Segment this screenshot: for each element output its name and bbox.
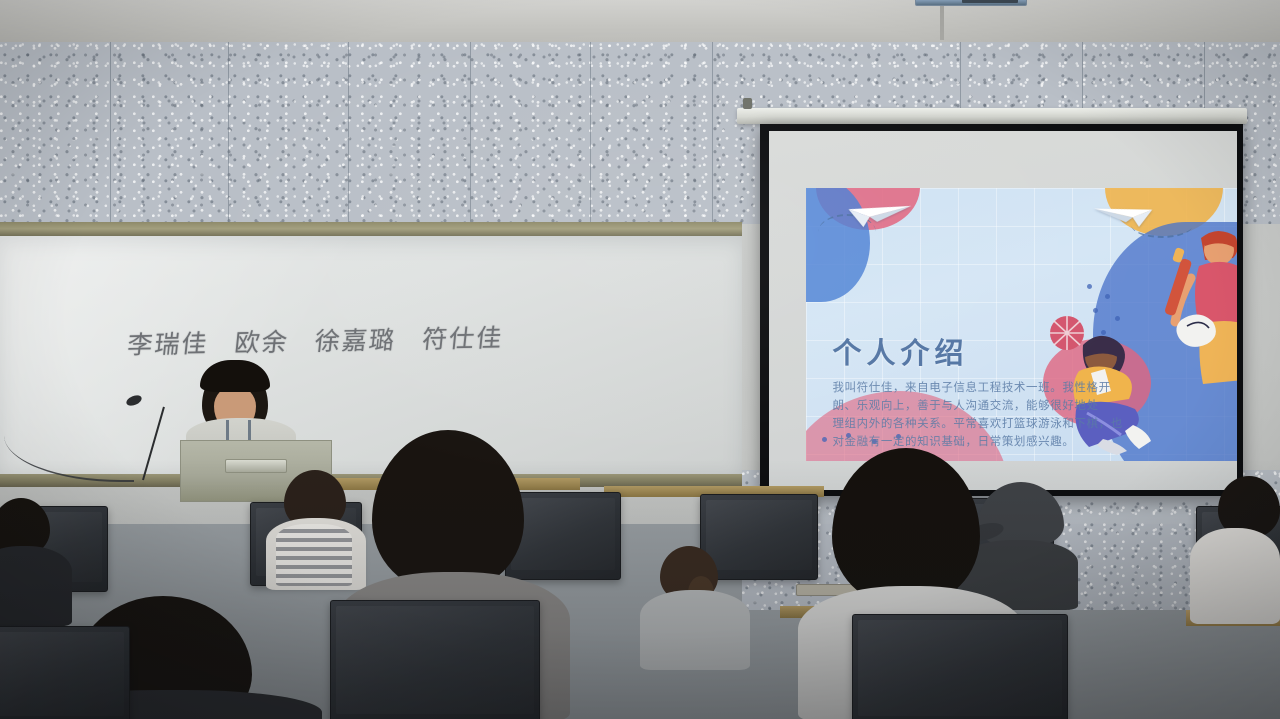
slide-body-line: 我叫符仕佳，来自电子信息工程技术一班。我性格开 xyxy=(832,379,1151,397)
desktop-monitor xyxy=(700,494,818,580)
air-conditioner-unit xyxy=(915,0,1027,6)
ac-vent-icon xyxy=(962,0,1018,3)
slide-body-text: 我叫符仕佳，来自电子信息工程技术一班。我性格开 朗、乐观向上，善于与人沟通交流，… xyxy=(832,379,1151,450)
lectern-handle xyxy=(225,459,287,473)
whiteboard-frame-top xyxy=(0,222,742,236)
slide-body-line: 朗、乐观向上，善于与人沟通交流，能够很好地处 xyxy=(832,397,1151,415)
illustration-guitarist-figure xyxy=(1147,216,1237,402)
whiteboard-name: 徐嘉璐 xyxy=(313,320,398,358)
desktop-monitor xyxy=(852,614,1068,719)
student-torso xyxy=(0,546,72,626)
screen-mount-bracket xyxy=(743,98,752,109)
student-striped-shirt xyxy=(276,524,352,586)
whiteboard-name: 符仕佳 xyxy=(420,318,505,356)
screen-surface: 个人介绍 我叫符仕佳，来自电子信息工程技术一班。我性格开 朗、乐观向上，善于与人… xyxy=(769,131,1237,490)
whiteboard-name: 李瑞佳 xyxy=(126,324,211,362)
panel-seam xyxy=(470,42,471,224)
ceiling-seam xyxy=(940,0,944,40)
desktop-monitor xyxy=(330,600,540,719)
slide-body-line: 理组内外的各种关系。平常喜欢打篮球游泳和下棋，也 xyxy=(832,415,1151,433)
screen-roller-housing[interactable] xyxy=(737,108,1247,124)
whiteboard-name: 欧余 xyxy=(233,323,291,360)
student-torso xyxy=(1190,528,1280,624)
panel-seam xyxy=(110,42,111,224)
panel-seam xyxy=(228,42,229,224)
classroom-scene: 李瑞佳 欧余 徐嘉璐 符仕佳 xyxy=(0,0,1280,719)
projection-screen: 个人介绍 我叫符仕佳，来自电子信息工程技术一班。我性格开 朗、乐观向上，善于与人… xyxy=(760,124,1243,496)
panel-seam xyxy=(712,42,713,224)
panel-seam xyxy=(348,42,349,224)
slide-title: 个人介绍 xyxy=(832,330,968,372)
ceiling xyxy=(0,0,1280,42)
slide-body-line: 对金融有一定的知识基础，日常策划感兴趣。 xyxy=(832,433,1151,451)
whiteboard-handwritten-names: 李瑞佳 欧余 徐嘉璐 符仕佳 xyxy=(126,318,506,361)
presentation-slide: 个人介绍 我叫符仕佳，来自电子信息工程技术一班。我性格开 朗、乐观向上，善于与人… xyxy=(806,188,1237,461)
student-torso xyxy=(640,590,750,670)
desktop-monitor xyxy=(0,626,130,719)
panel-seam xyxy=(590,42,591,224)
